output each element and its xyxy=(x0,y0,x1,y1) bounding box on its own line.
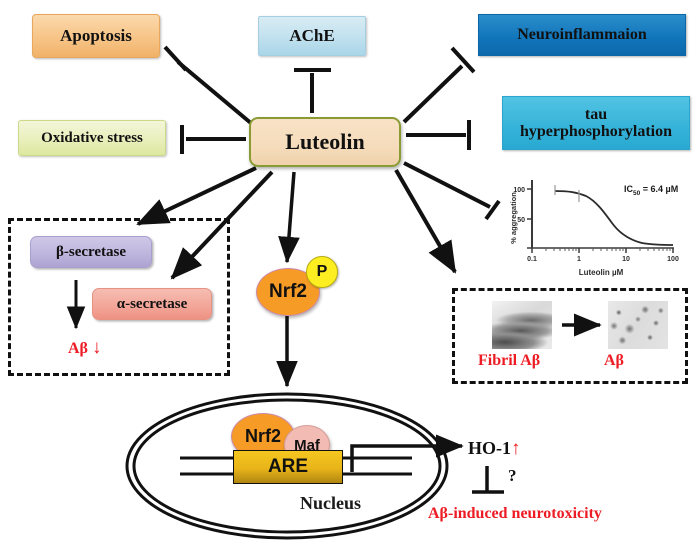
edge-are-to-ho1 xyxy=(352,446,462,472)
node-oxidative-stress-label: Oxidative stress xyxy=(41,130,143,146)
chart-ylabel: % aggregation xyxy=(509,192,518,244)
label-abeta-induced-neurotoxicity: Aβ-induced neurotoxicity xyxy=(428,505,602,523)
chart-ic50-suffix: = 6.4 µM xyxy=(640,184,678,194)
up-arrow-icon: ↑ xyxy=(511,438,521,459)
node-oxidative-stress[interactable]: Oxidative stress xyxy=(18,120,166,156)
chart-ic50-annotation: IC50 = 6.4 µM xyxy=(624,184,678,197)
chart-xlabel: Luteolin µM xyxy=(579,268,624,277)
label-nucleus: Nucleus xyxy=(300,493,361,514)
edge-ho1-inhibits-neurotoxicity xyxy=(472,466,504,492)
node-nrf2-label: Nrf2 xyxy=(269,281,307,303)
node-apoptosis-label: Apoptosis xyxy=(60,27,132,45)
node-beta-secretase-label: β-secretase xyxy=(56,244,126,260)
chart-xtick-3: 100 xyxy=(667,256,679,263)
edge-luteolin-to-fibril-panel xyxy=(396,170,455,272)
micrograph-disaggregated-abeta xyxy=(608,301,668,349)
micrograph-fibril-abeta xyxy=(492,301,552,349)
label-ho1-text: HO-1 xyxy=(468,438,511,458)
label-abeta-decrease: Aβ ↓ xyxy=(68,338,101,358)
edge-luteolin-to-beta-secretase xyxy=(138,168,256,224)
node-neuroinflammaion[interactable]: Neuroinflammaion xyxy=(478,14,686,56)
node-alpha-secretase-label: α-secretase xyxy=(117,296,188,312)
node-alpha-secretase[interactable]: α-secretase xyxy=(92,288,212,320)
edge-luteolin-inhibits-apoptosis xyxy=(165,47,252,124)
node-are-label: ARE xyxy=(268,456,308,478)
label-abeta-text: Aβ xyxy=(68,340,88,357)
node-tau-hyperphosphorylation[interactable]: tau hyperphosphorylation xyxy=(502,96,690,150)
down-arrow-icon: ↓ xyxy=(92,337,102,358)
pathway-diagram: Apoptosis Oxidative stress AChE Neuroinf… xyxy=(0,0,700,552)
phosphorylation-badge: P xyxy=(306,256,338,288)
edge-luteolin-inhibits-ache xyxy=(294,70,331,113)
chart-curve xyxy=(555,191,673,245)
chart-ytick-50: 50 xyxy=(517,217,525,224)
label-ho1: HO-1↑ xyxy=(468,438,521,459)
phospho-label: P xyxy=(317,263,328,281)
edge-luteolin-to-nrf2 xyxy=(287,172,294,262)
node-tau-label-wrap: tau hyperphosphorylation xyxy=(520,106,672,141)
edge-luteolin-inhibits-oxidative-stress xyxy=(182,125,246,154)
node-tau-line2: hyperphosphorylation xyxy=(520,123,672,140)
node-tau-line1: tau xyxy=(585,106,607,123)
chart-xtick-0: 0.1 xyxy=(527,256,537,263)
node-luteolin-label: Luteolin xyxy=(285,130,364,154)
node-are-element[interactable]: ARE xyxy=(233,450,343,484)
inset-chart-svg: 100 50 0.1 1 10 100 % aggregation Luteol… xyxy=(496,174,688,284)
node-apoptosis[interactable]: Apoptosis xyxy=(32,14,160,58)
node-nrf2-nuclear-label: Nrf2 xyxy=(245,426,281,447)
node-ache[interactable]: AChE xyxy=(258,16,366,56)
node-ache-label: AChE xyxy=(289,27,334,45)
edge-luteolin-inhibits-neuroinflammaion xyxy=(404,48,474,122)
node-luteolin[interactable]: Luteolin xyxy=(249,117,401,167)
edge-luteolin-inhibits-aggregation xyxy=(404,163,499,219)
chart-xtick-1: 1 xyxy=(577,256,581,263)
label-question-mark: ? xyxy=(508,466,517,486)
edge-luteolin-inhibits-tau xyxy=(406,120,469,150)
node-neuroinflammaion-label: Neuroinflammaion xyxy=(517,26,646,43)
node-beta-secretase[interactable]: β-secretase xyxy=(30,236,152,268)
label-fibril-abeta: Fibril Aβ xyxy=(478,352,540,370)
chart-xtick-2: 10 xyxy=(622,256,630,263)
label-abeta-disaggregated: Aβ xyxy=(604,352,624,370)
inset-aggregation-chart: 100 50 0.1 1 10 100 % aggregation Luteol… xyxy=(496,174,688,284)
